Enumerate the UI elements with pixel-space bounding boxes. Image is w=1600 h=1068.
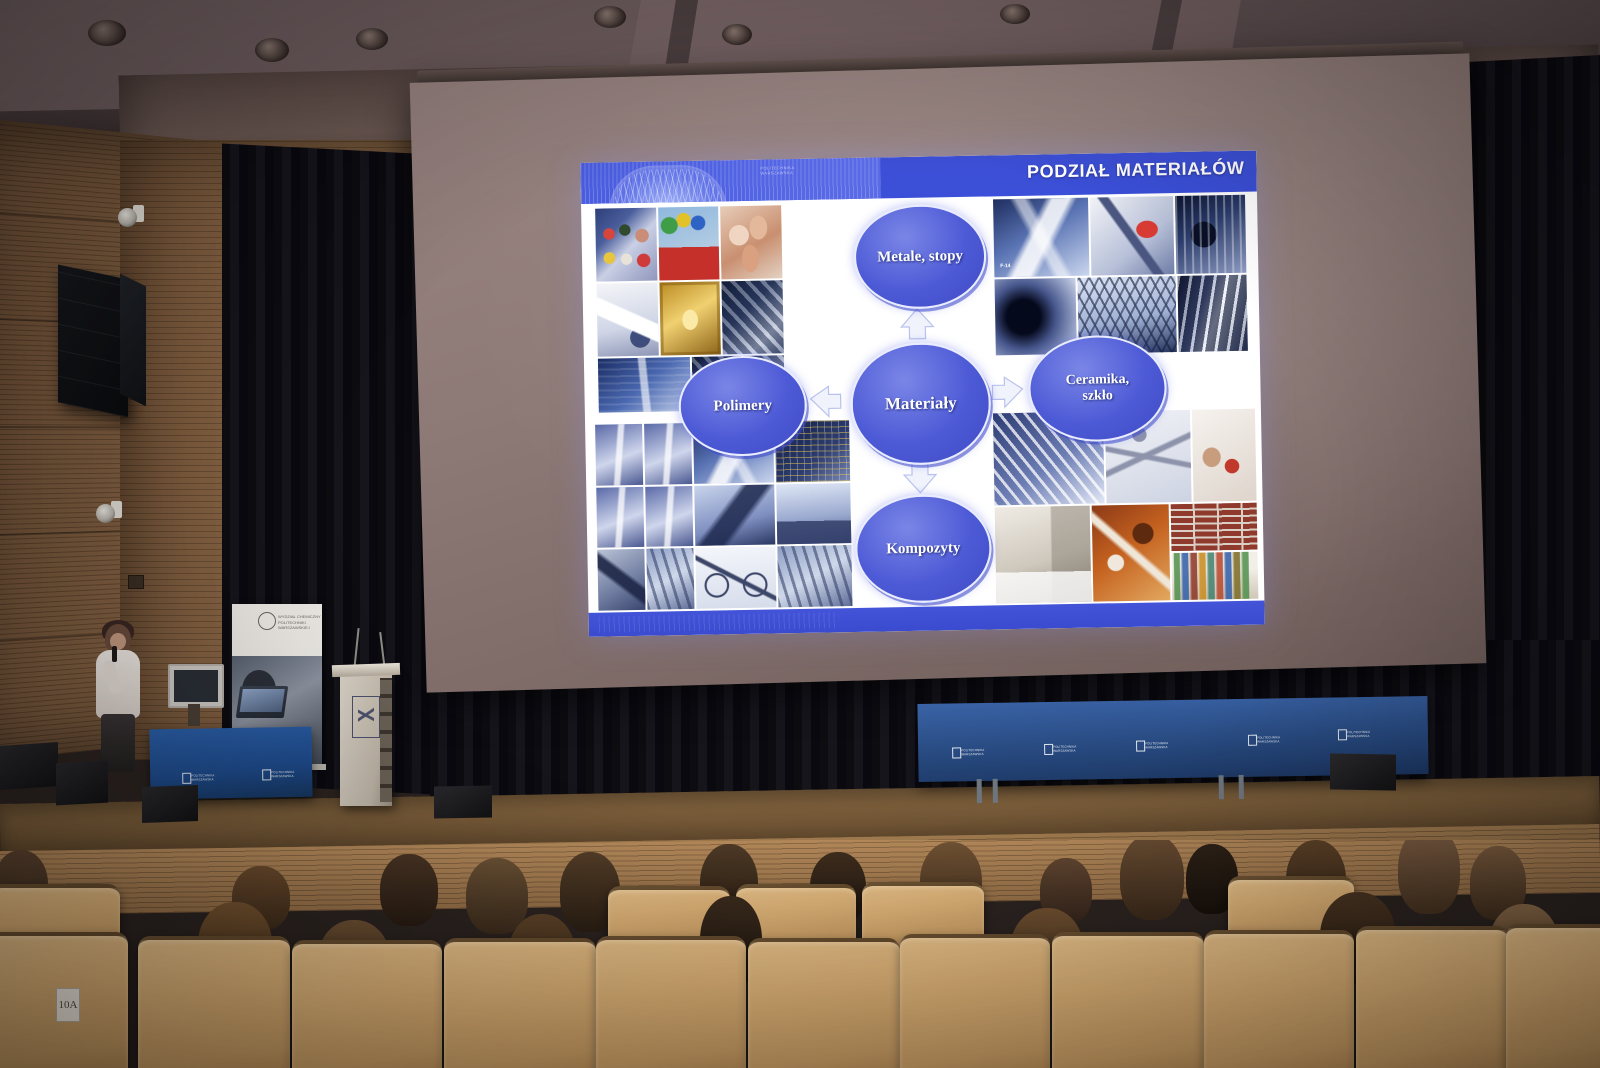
stage-monitor-wedge bbox=[434, 785, 492, 818]
lectern bbox=[340, 672, 392, 806]
downlight-icon bbox=[88, 20, 126, 46]
auditorium-seat bbox=[596, 936, 746, 1068]
audience-head bbox=[380, 854, 438, 926]
node-ceramika-szklo-label: Ceramika, szkło bbox=[1066, 372, 1130, 405]
auditorium-seat bbox=[1506, 924, 1600, 1068]
laptop[interactable] bbox=[236, 686, 288, 718]
rollup-banner-logo-icon bbox=[258, 612, 276, 630]
audience-area: 10A bbox=[0, 840, 1600, 1068]
desk-logo: POLITECHNIKA WARSZAWSKA bbox=[262, 769, 290, 778]
node-ceramika-line1: Ceramika, bbox=[1066, 372, 1130, 388]
arrow-left-to-polymers-icon bbox=[810, 386, 841, 417]
seat-row-marker: 10A bbox=[56, 988, 80, 1022]
table-logo: POLITECHNIKA WARSZAWSKA bbox=[1136, 740, 1164, 749]
auditorium-seat bbox=[138, 936, 290, 1068]
collage-tile bbox=[1172, 552, 1259, 601]
collage-tile bbox=[1177, 275, 1247, 352]
rollup-banner-text: WYDZIAŁ CHEMICZNY POLITECHNIKI WARSZAWSK… bbox=[278, 614, 322, 631]
arrow-right-to-ceramics-icon bbox=[992, 377, 1023, 408]
confidence-monitor bbox=[168, 664, 224, 708]
auditorium-seat bbox=[748, 938, 900, 1068]
pw-mark-icon bbox=[1338, 729, 1347, 740]
node-kompozyty-label: Kompozyty bbox=[886, 540, 960, 558]
collage-tile bbox=[659, 281, 721, 355]
collage-tile bbox=[658, 206, 720, 280]
collage-tile bbox=[595, 208, 657, 282]
collage-tile bbox=[1171, 503, 1258, 552]
ptz-camera-icon bbox=[118, 204, 144, 230]
downlight-icon bbox=[1000, 4, 1030, 24]
desk-logo-line2: WARSZAWSKA bbox=[271, 774, 294, 779]
table-logo-line2: WARSZAWSKA bbox=[1145, 745, 1168, 750]
downlight-icon bbox=[594, 6, 626, 28]
stage-monitor-wedge bbox=[0, 742, 58, 790]
table-logo-text: POLITECHNIKA WARSZAWSKA bbox=[1257, 735, 1280, 744]
rollup-banner-line2: POLITECHNIKI WARSZAWSKIEJ bbox=[278, 620, 322, 631]
projection-screen: POLITECHNIKA WARSZAWSKA PODZIAŁ MATERIAŁ… bbox=[410, 53, 1487, 692]
slide-title: PODZIAŁ MATERIAŁÓW bbox=[1027, 158, 1245, 183]
projected-slide: POLITECHNIKA WARSZAWSKA PODZIAŁ MATERIAŁ… bbox=[580, 151, 1265, 637]
wall-panel-box bbox=[128, 575, 144, 589]
pw-mark-icon bbox=[182, 773, 191, 784]
node-kompozyty: Kompozyty bbox=[854, 493, 992, 603]
ptz-camera-icon bbox=[96, 500, 122, 526]
collage-tile bbox=[722, 280, 784, 354]
stage-monitor-wedge bbox=[1330, 753, 1396, 790]
stage-monitor-wedge bbox=[56, 761, 108, 806]
pw-emblem-icon bbox=[352, 696, 380, 738]
collage-tile bbox=[694, 484, 776, 546]
auditorium-seat bbox=[900, 934, 1050, 1068]
audience-head bbox=[1398, 840, 1460, 914]
desk-logo-text: POLITECHNIKA WARSZAWSKA bbox=[191, 773, 214, 782]
pw-mark-icon bbox=[1136, 740, 1145, 751]
arrow-down-to-composites-icon bbox=[904, 462, 937, 493]
collage-tile bbox=[1091, 504, 1170, 601]
collage-tile bbox=[1175, 195, 1247, 274]
collage-tile bbox=[645, 486, 693, 548]
node-metale-stopy-label: Metale, stopy bbox=[877, 248, 963, 266]
collage-tile bbox=[720, 205, 782, 279]
presenter bbox=[92, 624, 144, 772]
desk-logo-line2: WARSZAWSKA bbox=[191, 777, 214, 782]
table-logo-text: POLITECHNIKA WARSZAWSKA bbox=[1053, 745, 1076, 754]
node-materialy: Materiały bbox=[850, 341, 992, 466]
table-logo-line2: WARSZAWSKA bbox=[1347, 734, 1370, 739]
audience-head bbox=[1120, 840, 1184, 920]
downlight-icon bbox=[722, 24, 752, 45]
screenshot-root: POLITECHNIKA WARSZAWSKA PODZIAŁ MATERIAŁ… bbox=[0, 0, 1600, 1068]
table-logo-text: POLITECHNIKA WARSZAWSKA bbox=[961, 748, 984, 757]
node-metale-stopy: Metale, stopy bbox=[853, 204, 987, 310]
collage-tile bbox=[646, 548, 694, 610]
desk-logo: POLITECHNIKA WARSZAWSKA bbox=[182, 772, 210, 781]
arrow-up-to-metals-icon bbox=[901, 309, 934, 340]
desk-logo-text: POLITECHNIKA WARSZAWSKA bbox=[271, 770, 294, 779]
node-ceramika-line2: szkło bbox=[1082, 388, 1113, 404]
pw-mark-icon bbox=[952, 747, 961, 758]
node-materialy-label: Materiały bbox=[885, 394, 957, 414]
downlight-icon bbox=[255, 38, 289, 62]
collage-tile bbox=[597, 549, 645, 611]
table-logo: POLITECHNIKA WARSZAWSKA bbox=[1248, 734, 1276, 743]
table-logo-line2: WARSZAWSKA bbox=[961, 752, 984, 757]
collage-tile bbox=[1090, 196, 1174, 276]
collage-tile bbox=[776, 483, 851, 545]
downlight-icon bbox=[356, 28, 388, 50]
stage-monitor-wedge bbox=[142, 785, 198, 823]
collage-tile bbox=[1191, 409, 1256, 502]
table-logo-text: POLITECHNIKA WARSZAWSKA bbox=[1145, 741, 1168, 750]
collage-tile bbox=[598, 357, 691, 413]
collage-bottom-right-lower bbox=[995, 503, 1259, 604]
auditorium-seat bbox=[1052, 932, 1204, 1068]
lectern-side-rack bbox=[380, 678, 392, 802]
collage-tile bbox=[596, 487, 644, 549]
rollup-banner-line1: WYDZIAŁ CHEMICZNY bbox=[278, 614, 322, 620]
collage-top-right bbox=[993, 195, 1246, 278]
table-logo-text: POLITECHNIKA WARSZAWSKA bbox=[1347, 730, 1370, 739]
collage-top-left bbox=[595, 205, 784, 356]
collage-tile bbox=[695, 547, 777, 609]
table-logo: POLITECHNIKA WARSZAWSKA bbox=[1044, 744, 1072, 753]
collage-tile bbox=[595, 424, 643, 486]
monitor-stand bbox=[188, 704, 200, 726]
node-polimery-label: Polimery bbox=[713, 397, 772, 415]
collage-tile bbox=[644, 423, 692, 485]
auditorium-seat bbox=[1204, 930, 1354, 1068]
pw-mark-icon bbox=[1248, 735, 1257, 746]
audience-head bbox=[466, 858, 528, 934]
table-logo: POLITECHNIKA WARSZAWSKA bbox=[1338, 729, 1366, 738]
auditorium-seat bbox=[292, 940, 442, 1068]
table-logo-line2: WARSZAWSKA bbox=[1257, 740, 1280, 745]
pw-mark-icon bbox=[1044, 744, 1053, 755]
lectern-top bbox=[332, 663, 400, 677]
slide-header-logo-line2: WARSZAWSKA bbox=[760, 170, 794, 176]
slide-header-logo: POLITECHNIKA WARSZAWSKA bbox=[760, 165, 794, 176]
image-label-f14: F-14 bbox=[1000, 263, 1010, 269]
pw-mark-icon bbox=[262, 769, 271, 780]
collage-tile bbox=[995, 506, 1091, 604]
line-array-speaker bbox=[58, 265, 128, 418]
line-array-speaker-side bbox=[120, 274, 146, 407]
auditorium-seat bbox=[1356, 926, 1508, 1068]
table-logo: POLITECHNIKA WARSZAWSKA bbox=[952, 747, 980, 756]
collage-tile bbox=[778, 545, 853, 607]
auditorium-seat bbox=[444, 938, 596, 1068]
microphone-icon bbox=[112, 646, 117, 662]
collage-tile bbox=[596, 283, 658, 357]
table-logo-line2: WARSZAWSKA bbox=[1053, 749, 1076, 754]
